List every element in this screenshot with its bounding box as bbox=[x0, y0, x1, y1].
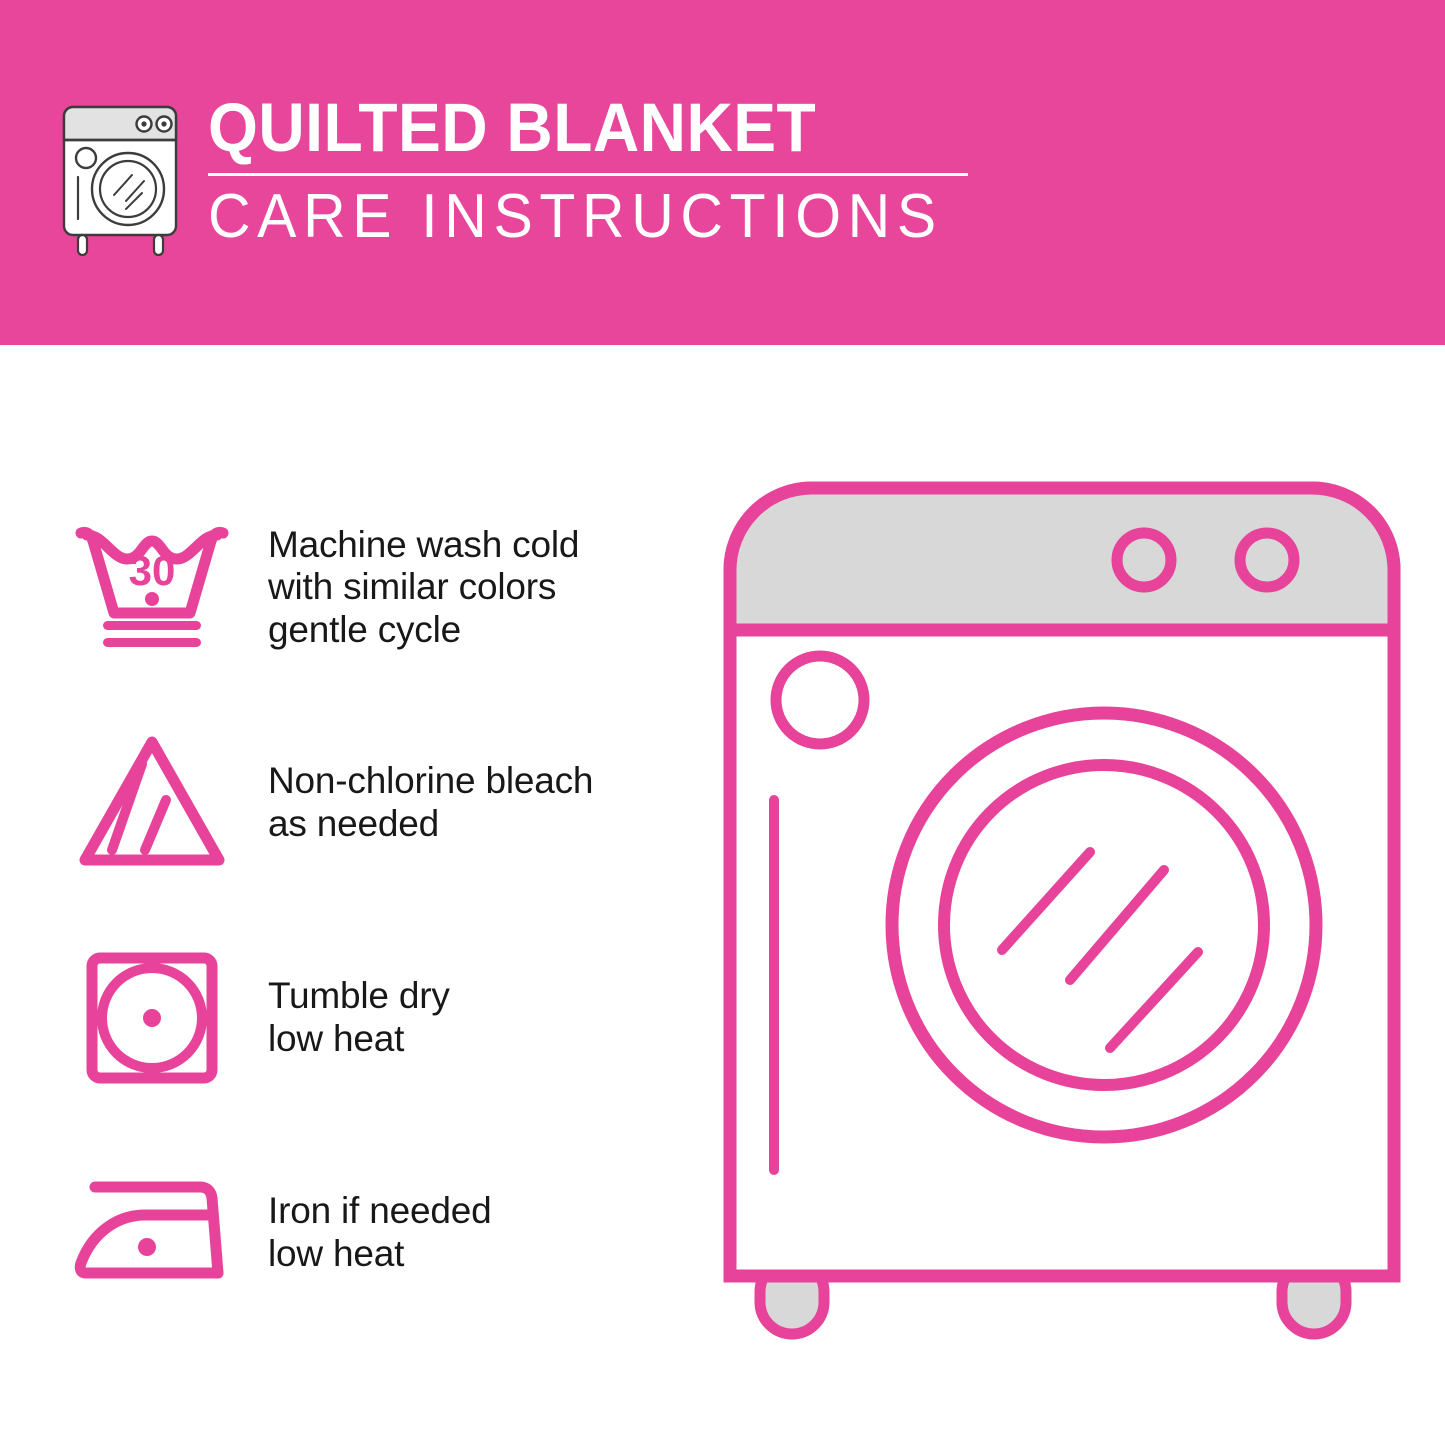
care-row-bleach: Non-chlorine bleach as needed bbox=[0, 695, 700, 910]
header-title-block: QUILTED BLANKET CARE INSTRUCTIONS bbox=[208, 95, 981, 248]
front-load-washing-machine-illustration bbox=[712, 470, 1412, 1370]
door-inner-ring[interactable] bbox=[944, 765, 1264, 1085]
care-text-iron: Iron if needed low heat bbox=[268, 1190, 491, 1275]
knob-right[interactable] bbox=[1240, 533, 1294, 587]
page-title: QUILTED BLANKET bbox=[208, 95, 927, 161]
care-line: with similar colors bbox=[268, 566, 579, 609]
care-text-machine-wash: Machine wash cold with similar colors ge… bbox=[268, 524, 579, 652]
care-row-machine-wash: 30 Machine wash cold with similar colors… bbox=[0, 480, 700, 695]
knob-left[interactable] bbox=[1117, 533, 1171, 587]
detergent-dispenser[interactable] bbox=[776, 656, 864, 744]
care-line: as needed bbox=[268, 803, 593, 846]
care-line: Machine wash cold bbox=[268, 524, 579, 567]
wash-tub-30-gentle-icon: 30 bbox=[62, 513, 242, 663]
care-instruction-list: 30 Machine wash cold with similar colors… bbox=[0, 480, 700, 1340]
care-text-bleach: Non-chlorine bleach as needed bbox=[268, 760, 593, 845]
care-line: Tumble dry bbox=[268, 975, 450, 1018]
care-line: low heat bbox=[268, 1018, 450, 1061]
care-line: Non-chlorine bleach bbox=[268, 760, 593, 803]
wash-temperature-label: 30 bbox=[129, 547, 176, 594]
header-banner: QUILTED BLANKET CARE INSTRUCTIONS bbox=[0, 0, 1445, 345]
care-line: Iron if needed bbox=[268, 1190, 491, 1233]
title-divider bbox=[208, 173, 968, 176]
care-text-tumble-dry: Tumble dry low heat bbox=[268, 975, 450, 1060]
care-row-tumble-dry: Tumble dry low heat bbox=[0, 910, 700, 1125]
care-instructions-page: QUILTED BLANKET CARE INSTRUCTIONS 30 M bbox=[0, 0, 1445, 1445]
header-content: QUILTED BLANKET CARE INSTRUCTIONS bbox=[58, 95, 981, 261]
iron-low-heat-icon bbox=[62, 1163, 242, 1303]
care-line: low heat bbox=[268, 1233, 491, 1276]
washing-machine-icon bbox=[58, 101, 186, 261]
page-subtitle: CARE INSTRUCTIONS bbox=[208, 186, 943, 248]
non-chlorine-bleach-triangle-icon bbox=[62, 728, 242, 878]
tumble-dry-low-icon bbox=[62, 943, 242, 1093]
care-line: gentle cycle bbox=[268, 609, 579, 652]
care-row-iron: Iron if needed low heat bbox=[0, 1125, 700, 1340]
